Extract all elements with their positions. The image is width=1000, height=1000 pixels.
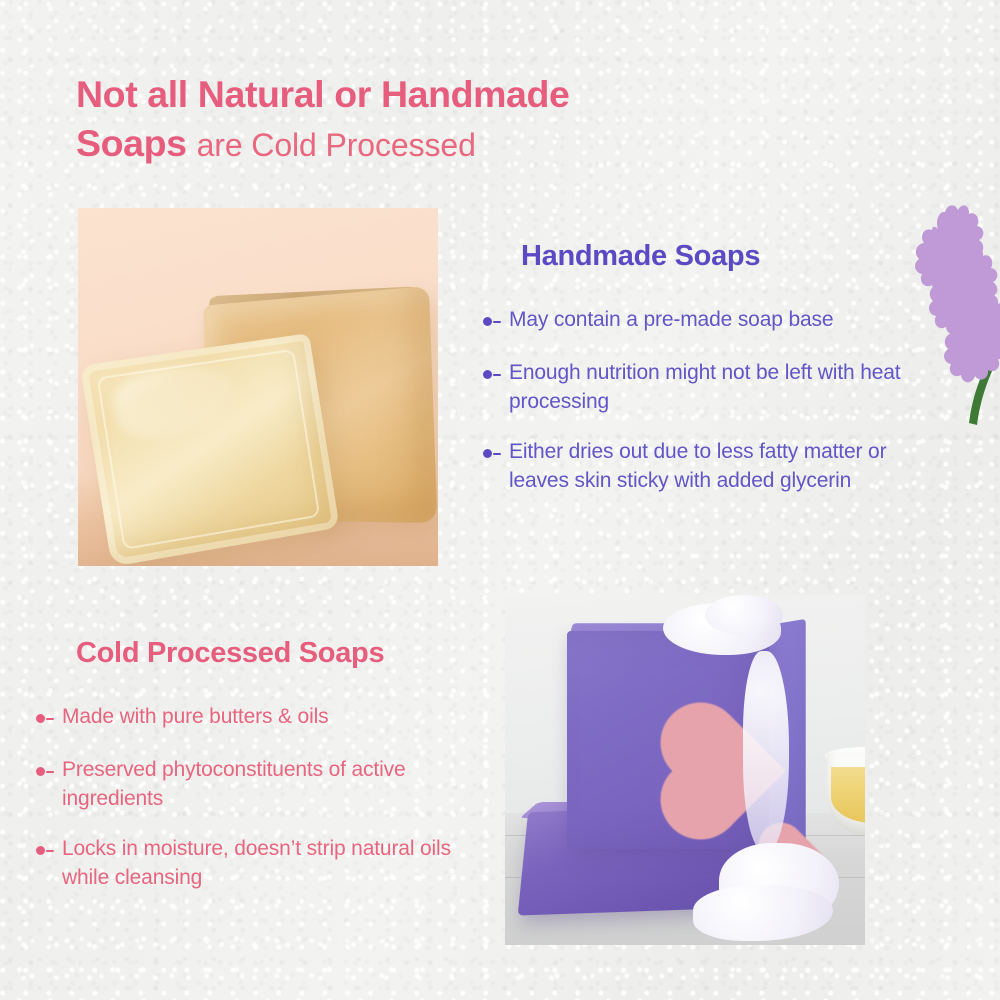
circle-dash-bullet-icon — [483, 441, 509, 469]
amber-glycerin-soap-photo — [78, 208, 438, 566]
title-regular-part: are Cold Processed — [197, 127, 476, 163]
list-item-label: Made with pure butters & oils — [62, 703, 328, 732]
circle-dash-bullet-icon — [36, 759, 62, 787]
list-item-label: Either dries out due to less fatty matte… — [509, 438, 903, 495]
title-line-2: Soaps are Cold Processed — [76, 119, 776, 168]
title-bold-part: Soaps — [76, 122, 197, 164]
list-item-label: Enough nutrition might not be left with … — [509, 359, 903, 416]
list-item: Either dries out due to less fatty matte… — [483, 438, 903, 495]
foam-side — [743, 651, 789, 851]
list-item: Preserved phytoconstituents of active in… — [36, 756, 476, 813]
list-item-label: May contain a pre-made soap base — [509, 306, 833, 335]
title-line-1: Not all Natural or Handmade — [76, 70, 776, 119]
circle-dash-bullet-icon — [36, 706, 62, 734]
soap-bar-upper — [567, 631, 769, 849]
oil-liquid — [831, 767, 865, 823]
list-item: May contain a pre-made soap base — [483, 306, 903, 337]
list-item-label: Preserved phytoconstituents of active in… — [62, 756, 476, 813]
bullet-list-handmade: May contain a pre-made soap base Enough … — [483, 306, 903, 517]
list-item-label: Locks in moisture, doesn’t strip natural… — [62, 835, 476, 892]
title-heading: Not all Natural or Handmade Soaps are Co… — [76, 70, 776, 168]
purple-heart-soap-photo — [505, 595, 865, 945]
page-title: Not all Natural or Handmade Soaps are Co… — [76, 70, 776, 168]
list-item: Made with pure butters & oils — [36, 703, 476, 734]
section-heading-handmade: Handmade Soaps — [521, 240, 760, 273]
lavender-sprig-icon — [905, 185, 1000, 445]
circle-dash-bullet-icon — [483, 309, 509, 337]
list-item: Locks in moisture, doesn’t strip natural… — [36, 835, 476, 892]
circle-dash-bullet-icon — [36, 838, 62, 866]
list-item: Enough nutrition might not be left with … — [483, 359, 903, 416]
circle-dash-bullet-icon — [483, 362, 509, 390]
foam-top-secondary — [705, 595, 783, 635]
section-heading-cold-processed: Cold Processed Soaps — [76, 637, 384, 670]
bullet-list-cold-processed: Made with pure butters & oils Preserved … — [36, 703, 476, 914]
